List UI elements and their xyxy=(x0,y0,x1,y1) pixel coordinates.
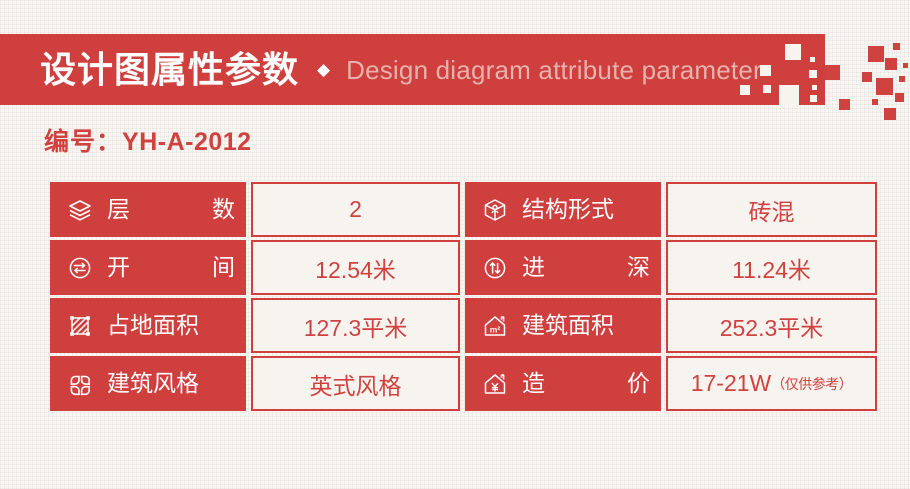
spec-label-cell-structure: 结构形式 xyxy=(465,182,661,237)
mosaic-square xyxy=(895,93,904,102)
spec-label-cell-depth: 进 深 xyxy=(465,240,661,295)
spec-label-text: 进 深 xyxy=(522,256,650,279)
clover-icon xyxy=(67,371,93,397)
spec-label-cell-style: 建筑风格 xyxy=(50,356,246,411)
spec-label-cell-cost: 造 价 xyxy=(465,356,661,411)
spec-label-cell-layers: 层 数 xyxy=(50,182,246,237)
hatched-area-icon xyxy=(67,313,93,339)
mosaic-square xyxy=(763,85,771,93)
spec-label-text: 开 间 xyxy=(107,256,235,279)
spec-label-text: 占地面积 xyxy=(107,314,199,337)
spec-label-cell-building-area: m² 建筑面积 xyxy=(465,298,661,353)
mosaic-square xyxy=(785,44,801,60)
mosaic-square xyxy=(760,65,771,76)
vertical-arrows-circle-icon xyxy=(482,255,508,281)
mosaic-square xyxy=(872,99,878,105)
spec-label-text: 建筑风格 xyxy=(107,372,199,395)
spec-value-cost-main: 17-21W xyxy=(691,370,772,397)
spec-value-structure: 砖混 xyxy=(666,182,877,237)
mosaic-decoration-inner xyxy=(0,0,910,140)
mosaic-square xyxy=(893,43,900,50)
spec-value-building-area: 252.3平米 xyxy=(666,298,877,353)
spec-label-cell-land-area: 占地面积 xyxy=(50,298,246,353)
mosaic-square xyxy=(884,108,896,120)
table-row: 建筑风格 英式风格 造 价 17-21W（仅供参考） xyxy=(50,356,862,414)
mosaic-square xyxy=(868,46,884,62)
mosaic-square xyxy=(876,78,893,95)
mosaic-square xyxy=(809,70,817,78)
spec-table: 层 数 2 结构形式 砖混 开 间 12.54米 xyxy=(50,182,862,414)
mosaic-square xyxy=(885,58,897,70)
layers-icon xyxy=(67,197,93,223)
mosaic-square xyxy=(825,65,840,80)
svg-text:m²: m² xyxy=(490,324,501,334)
mosaic-square xyxy=(740,85,750,95)
house-yuan-icon xyxy=(482,371,508,397)
mosaic-square xyxy=(810,57,815,62)
table-row: 层 数 2 结构形式 砖混 xyxy=(50,182,862,240)
spec-label-text: 层 数 xyxy=(107,198,235,221)
spec-value-depth: 11.24米 xyxy=(666,240,877,295)
spec-label-cell-width: 开 间 xyxy=(50,240,246,295)
spec-value-cost: 17-21W（仅供参考） xyxy=(666,356,877,411)
mosaic-square xyxy=(812,85,817,90)
house-area-icon: m² xyxy=(482,313,508,339)
spec-value-width: 12.54米 xyxy=(251,240,460,295)
spec-label-text: 结构形式 xyxy=(522,198,614,221)
mosaic-square xyxy=(810,95,817,102)
spec-value-land-area: 127.3平米 xyxy=(251,298,460,353)
spec-value-cost-note: （仅供参考） xyxy=(771,374,852,394)
mosaic-square xyxy=(899,76,905,82)
spec-label-text: 造 价 xyxy=(522,372,650,395)
spec-label-text: 建筑面积 xyxy=(522,314,614,337)
mosaic-square xyxy=(862,72,872,82)
mosaic-square xyxy=(779,85,799,105)
table-row: 占地面积 127.3平米 m² 建筑面积 252.3平米 xyxy=(50,298,862,356)
cube-icon xyxy=(482,197,508,223)
mosaic-square xyxy=(839,99,850,110)
spec-value-layers: 2 xyxy=(251,182,460,237)
horizontal-arrows-circle-icon xyxy=(67,255,93,281)
spec-value-style: 英式风格 xyxy=(251,356,460,411)
mosaic-square xyxy=(903,63,908,68)
table-row: 开 间 12.54米 进 深 11.24米 xyxy=(50,240,862,298)
